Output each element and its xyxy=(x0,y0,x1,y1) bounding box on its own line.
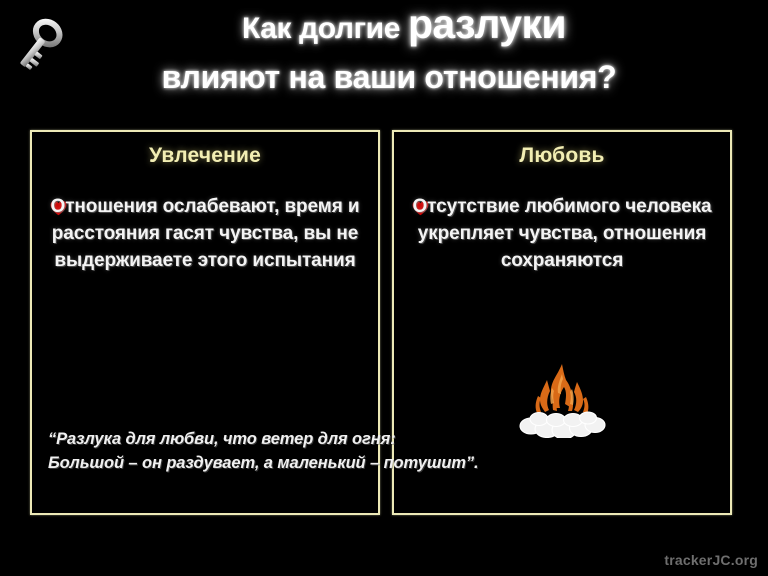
title-line1-big: разлуки xyxy=(408,1,566,47)
quote-text: “Разлука для любви, что ветер для огня: … xyxy=(48,428,720,476)
title-line1-small: Как долгие xyxy=(242,12,400,45)
panel-heading-love: Любовь xyxy=(394,144,730,168)
title-line2: влияют на ваши отношения? xyxy=(162,59,617,95)
panel-body-love: Отсутствие любимого человека укрепляет ч… xyxy=(410,194,714,275)
slide-canvas: Как долгие разлуки влияют на ваши отноше… xyxy=(0,0,768,576)
watermark: trackerJC.org xyxy=(664,552,758,568)
panel-body-infatuation: Отношения ослабевают, время и расстояния… xyxy=(48,194,362,275)
panel-heading-infatuation: Увлечение xyxy=(32,144,378,168)
quote-line-1: “Разлука для любви, что ветер для огня: xyxy=(48,428,720,452)
page-title: Как долгие разлуки влияют на ваши отноше… xyxy=(0,4,768,93)
campfire-icon xyxy=(514,360,610,438)
quote-line-2: Большой – он раздувает, а маленький – по… xyxy=(48,452,720,476)
